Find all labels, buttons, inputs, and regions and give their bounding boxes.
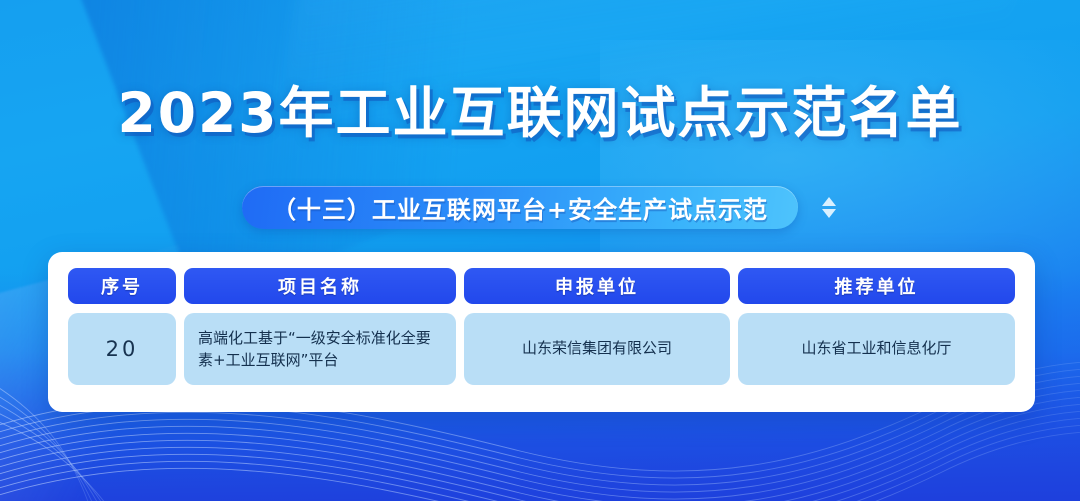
- cell-index: 20: [68, 313, 176, 385]
- column-header-index: 序号: [68, 268, 176, 304]
- cell-applicant: 山东荣信集团有限公司: [464, 313, 730, 385]
- cell-project-name: 高端化工基于“一级安全标准化全要素+工业互联网”平台: [184, 313, 456, 385]
- subtitle-pill[interactable]: （十三）工业互联网平台+安全生产试点示范: [242, 186, 798, 229]
- subtitle-row: （十三）工业互联网平台+安全生产试点示范: [0, 186, 1080, 229]
- table-header-row: 序号 项目名称 申报单位 推荐单位: [68, 268, 1015, 304]
- cell-recommender: 山东省工业和信息化厅: [738, 313, 1015, 385]
- chevron-down-icon: [822, 209, 836, 218]
- column-header-recommender: 推荐单位: [738, 268, 1015, 304]
- column-header-project-name: 项目名称: [184, 268, 456, 304]
- page-title: 2023年工业互联网试点示范名单: [0, 86, 1080, 141]
- column-header-applicant: 申报单位: [464, 268, 730, 304]
- table-card: 序号 项目名称 申报单位 推荐单位 20 高端化工基于“一级安全标准化全要素+工…: [48, 252, 1035, 412]
- poster-canvas: 2023年工业互联网试点示范名单 （十三）工业互联网平台+安全生产试点示范 序号…: [0, 0, 1080, 501]
- chevron-up-down-icon[interactable]: [820, 191, 838, 225]
- table-row: 20 高端化工基于“一级安全标准化全要素+工业互联网”平台 山东荣信集团有限公司…: [68, 313, 1015, 385]
- listing-table: 序号 项目名称 申报单位 推荐单位 20 高端化工基于“一级安全标准化全要素+工…: [68, 268, 1015, 385]
- chevron-up-icon: [822, 197, 836, 206]
